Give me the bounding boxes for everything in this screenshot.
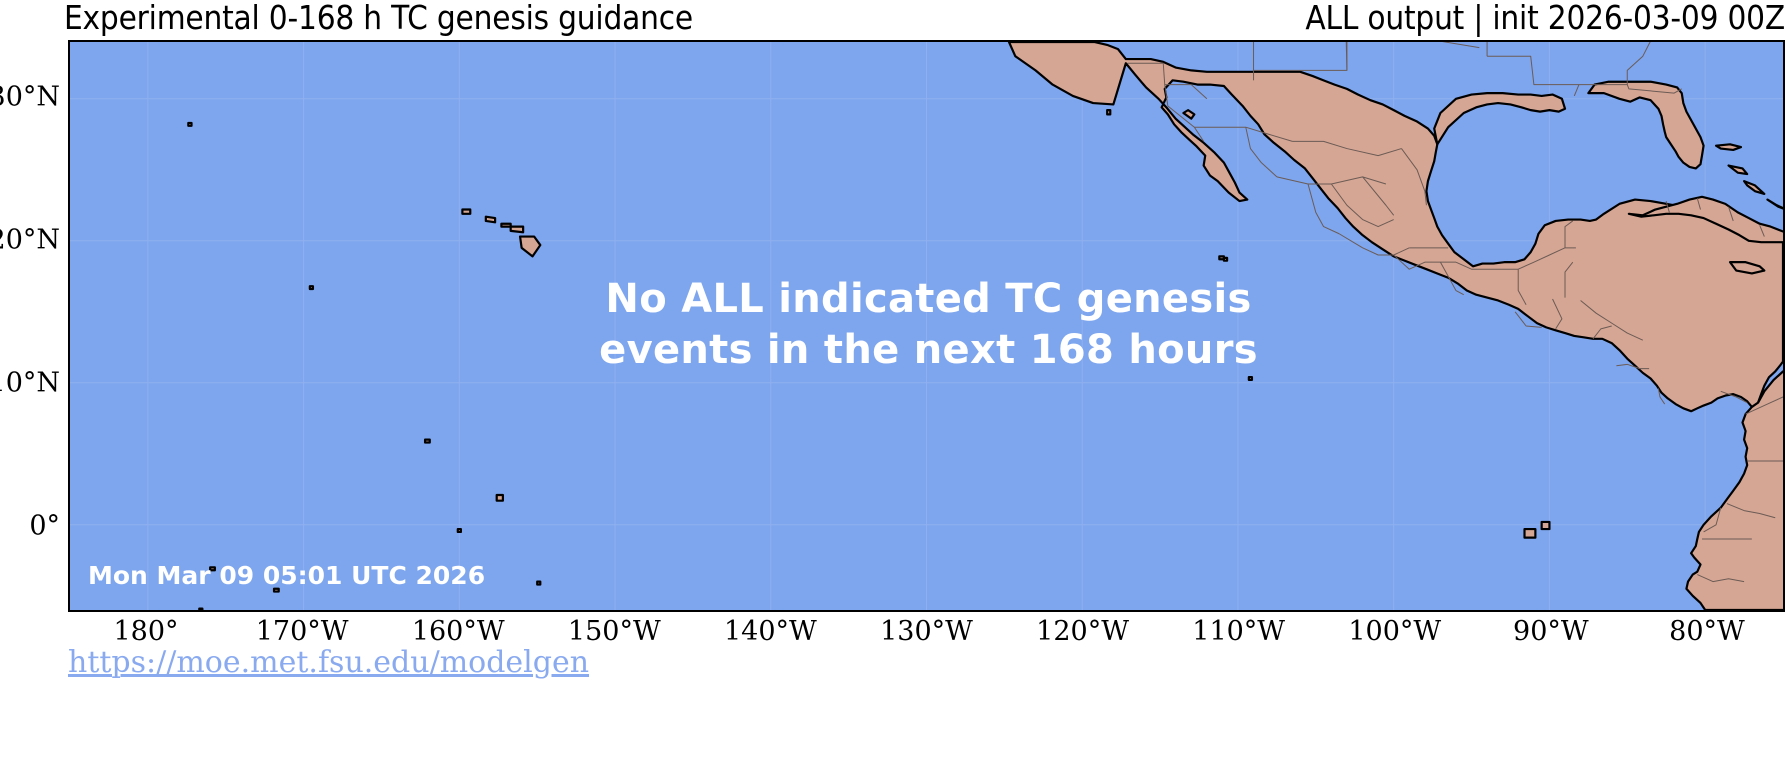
y-tick-label-3: 0°	[60, 511, 91, 542]
x-tick-label-6: 120°W	[1036, 616, 1129, 647]
map-plot-area[interactable]: No ALL indicated TC genesis events in th…	[68, 40, 1785, 612]
page-title: Experimental 0-168 h TC genesis guidance	[64, 0, 693, 37]
x-tick-label-3: 150°W	[568, 616, 661, 647]
x-tick-label-5: 130°W	[880, 616, 973, 647]
x-tick-label-4: 140°W	[724, 616, 817, 647]
figure-title-row: Experimental 0-168 h TC genesis guidance…	[0, 0, 1789, 38]
y-tick-label-0: 30°N	[60, 82, 131, 113]
x-tick-label-2: 160°W	[412, 616, 505, 647]
x-tick-label-8: 100°W	[1348, 616, 1441, 647]
x-tick-label-10: 80°W	[1669, 616, 1745, 647]
x-tick-label-1: 170°W	[256, 616, 349, 647]
source-url-link[interactable]: https://moe.met.fsu.edu/modelgen	[68, 645, 589, 680]
basemap-svg	[70, 42, 1783, 610]
output-init-label: ALL output | init 2026-03-09 00Z	[1305, 0, 1785, 37]
x-tick-label-9: 90°W	[1513, 616, 1589, 647]
x-tick-label-7: 110°W	[1192, 616, 1285, 647]
y-tick-label-2: 10°N	[60, 368, 131, 399]
tc-genesis-figure: Experimental 0-168 h TC genesis guidance…	[0, 0, 1789, 768]
x-tick-label-0: 180°	[114, 616, 179, 647]
y-tick-label-1: 20°N	[60, 225, 131, 256]
valid-timestamp: Mon Mar 09 05:01 UTC 2026	[88, 561, 485, 590]
